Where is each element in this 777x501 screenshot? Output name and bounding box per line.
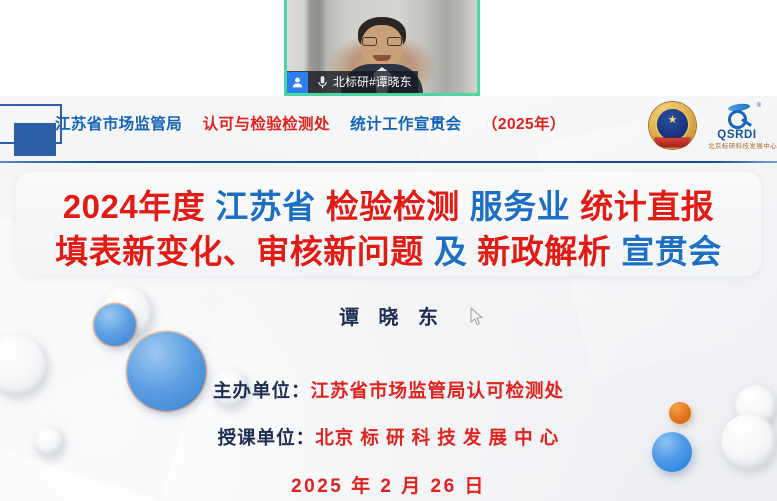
title-part-report: 统计直报 bbox=[580, 188, 714, 225]
person-glasses bbox=[361, 37, 403, 47]
qsrdi-subtitle: 北京标研科技发展中心 bbox=[708, 144, 766, 151]
participant-name-strip: 北标研#谭晓东 bbox=[287, 71, 418, 93]
registered-trademark-icon: ® bbox=[757, 103, 761, 109]
screen: 北标研#谭晓东 江苏省市场监管局 认可与检验检测处 统计工作宣贯会 bbox=[0, 0, 777, 501]
person-icon bbox=[287, 72, 308, 93]
credit-value-host: 江苏省市场监管局认可检测处 bbox=[311, 380, 565, 401]
microphone-icon bbox=[316, 74, 329, 90]
credit-row-host: 主办单位：江苏省市场监管局认可检测处 bbox=[0, 377, 777, 403]
credit-value-instructor: 北京 标 研 科 技 发 展 中 心 bbox=[315, 427, 559, 448]
header-segment-org: 江苏省市场监管局 bbox=[55, 116, 182, 133]
title-part-and: 及 bbox=[434, 233, 468, 270]
title-part-changes: 填表新变化、审核新问题 bbox=[55, 233, 424, 270]
header-square-filled-decoration bbox=[14, 123, 56, 156]
slide-header: 江苏省市场监管局 认可与检验检测处 统计工作宣贯会 （2025年） ★ bbox=[0, 96, 777, 168]
presentation-slide: 江苏省市场监管局 认可与检验检测处 统计工作宣贯会 （2025年） ★ bbox=[0, 96, 777, 501]
video-tile-active-speaker[interactable]: 北标研#谭晓东 bbox=[284, 0, 480, 96]
slide-header-text: 江苏省市场监管局 认可与检验检测处 统计工作宣贯会 （2025年） bbox=[55, 112, 566, 134]
header-segment-meeting: 统计工作宣贯会 bbox=[350, 116, 461, 133]
slide-title-line-1: 2024年度江苏省检验检测服务业统计直报 bbox=[16, 180, 761, 228]
title-part-year: 2024年度 bbox=[63, 188, 205, 225]
title-part-session: 宣贯会 bbox=[621, 233, 722, 270]
header-segment-year: （2025年） bbox=[482, 116, 566, 133]
slide-date: 2025 年 2 月 26 日 bbox=[0, 471, 777, 498]
header-logos: ★ ® QSRDI 北京标研科技发展中心 bbox=[649, 102, 766, 149]
participant-name-label: 北标研#谭晓东 bbox=[333, 76, 412, 88]
header-divider bbox=[0, 161, 777, 163]
qsrdi-wordmark: QSRDI bbox=[708, 130, 766, 142]
title-part-service: 服务业 bbox=[470, 188, 571, 225]
title-part-testing: 检验检测 bbox=[326, 188, 460, 225]
slide-title-line-2: 填表新变化、审核新问题及新政解析宣贯会 bbox=[16, 225, 761, 273]
credit-label-host: 主办单位： bbox=[213, 380, 311, 401]
person-face bbox=[361, 25, 403, 69]
title-part-policy: 新政解析 bbox=[477, 233, 611, 270]
slide-title-card: 2024年度江苏省检验检测服务业统计直报 填表新变化、审核新问题及新政解析宣贯会 bbox=[16, 172, 761, 276]
decorative-sphere bbox=[669, 402, 691, 424]
qsrdi-logo: ® QSRDI 北京标研科技发展中心 bbox=[708, 103, 766, 148]
speaker-name: 谭 晓 东 bbox=[0, 301, 777, 330]
credit-label-instructor: 授课单位： bbox=[218, 427, 316, 448]
gov-emblem-icon: ★ bbox=[649, 102, 696, 149]
header-segment-dept: 认可与检验检测处 bbox=[203, 116, 330, 133]
title-part-province: 江苏省 bbox=[215, 188, 316, 225]
credit-row-instructor: 授课单位：北京 标 研 科 技 发 展 中 心 bbox=[0, 424, 777, 450]
qsrdi-mark-icon: ® bbox=[708, 103, 766, 130]
